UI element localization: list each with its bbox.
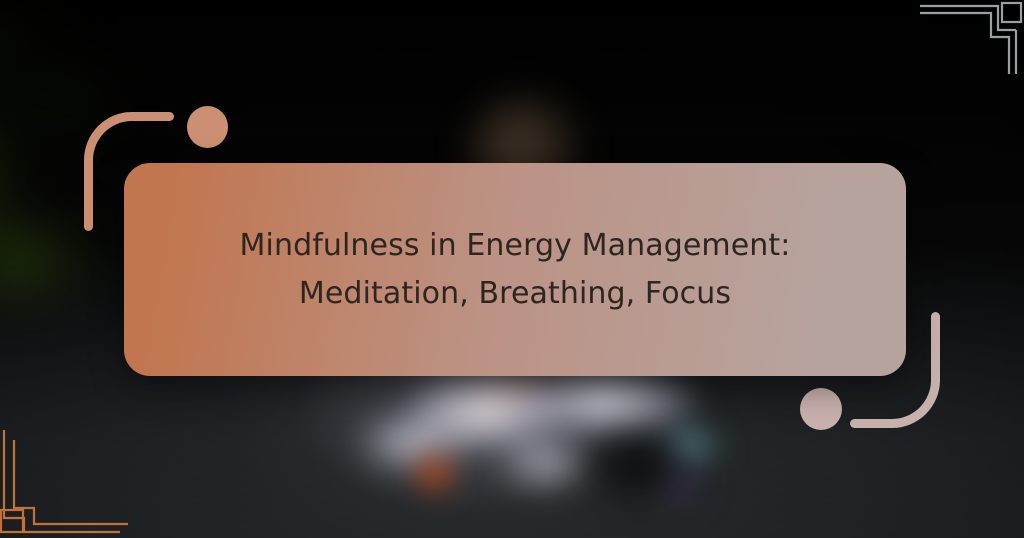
title-card: Mindfulness in Energy Management: Medita… — [124, 163, 906, 376]
decorative-dot-bottom-right — [800, 388, 842, 430]
background-shadow — [560, 408, 740, 528]
presentation-slide: Mindfulness in Energy Management: Medita… — [0, 0, 1024, 538]
decorative-dot-top-left — [187, 106, 228, 148]
corner-frame-top-right-icon — [890, 0, 1024, 74]
background-accent-orange — [395, 438, 475, 510]
corner-frame-bottom-left-icon — [0, 404, 134, 538]
slide-title: Mindfulness in Energy Management: Medita… — [240, 222, 791, 317]
